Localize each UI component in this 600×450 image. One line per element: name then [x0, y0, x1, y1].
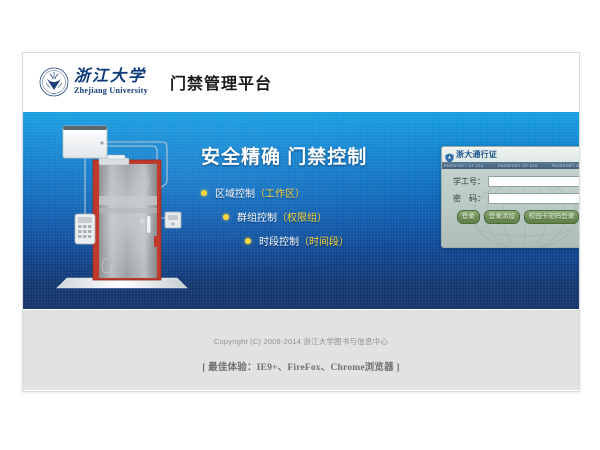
- login-add-button[interactable]: 登录添加: [484, 210, 520, 224]
- form-row-password: 密 码：: [450, 193, 579, 204]
- access-control-door-illustration: [41, 118, 201, 304]
- student-staff-id-input[interactable]: [488, 176, 579, 187]
- zju-name-cn: 浙江大学: [74, 69, 148, 85]
- password-label: 密 码：: [450, 193, 488, 204]
- feature-label: 区域控制: [215, 185, 255, 200]
- svg-text:1897: 1897: [52, 94, 56, 96]
- list-item: 时段控制 （时间段）: [201, 233, 416, 248]
- feature-list: 区域控制 （工作区） 群组控制 （权限组） 时段控制 （时间段）: [201, 185, 416, 248]
- bullet-dot-icon: [201, 190, 207, 196]
- strip-word: PASSPORT OF ZJU: [498, 164, 538, 168]
- campus-card-login-button[interactable]: 校园卡密码登录: [524, 210, 579, 224]
- passport-title-en: PASSPORT OF ZJU: [456, 162, 497, 166]
- feature-note: （权限组）: [277, 209, 327, 224]
- bullet-dot-icon: [245, 238, 251, 244]
- login-panel: 浙大通行证 PASSPORT OF ZJU PASSPORT OF ZJU PA…: [441, 146, 579, 248]
- zju-name-en: Zhejiang University: [74, 87, 148, 95]
- shield-icon: [445, 150, 454, 160]
- footer-browser-note: [ 最佳体验：IE9+、FireFox、Chrome浏览器 ]: [23, 359, 579, 373]
- feature-note: （时间段）: [299, 233, 349, 248]
- login-form: 学工号： 密 码： 登录 登录添加 校园卡密码登录: [442, 169, 579, 224]
- login-panel-header: 浙大通行证 PASSPORT OF ZJU: [442, 147, 579, 162]
- feature-note: （工作区）: [255, 185, 305, 200]
- feature-label: 群组控制: [237, 209, 277, 224]
- list-item: 区域控制 （工作区）: [201, 185, 416, 200]
- password-input[interactable]: [488, 193, 579, 204]
- hero-banner: 安全精确 门禁控制 区域控制 （工作区） 群组控制 （权限组） 时段控制 （时间…: [23, 112, 579, 309]
- zju-seal-icon: 1897: [39, 67, 69, 97]
- slogan-title: 安全精确 门禁控制: [201, 142, 416, 169]
- slogan-block: 安全精确 门禁控制 区域控制 （工作区） 群组控制 （权限组） 时段控制 （时间…: [201, 142, 416, 257]
- page-container: 1897 浙江大学 Zhejiang University 门禁管理平台: [22, 52, 580, 392]
- login-button[interactable]: 登录: [457, 210, 480, 224]
- page-title: 门禁管理平台: [170, 70, 272, 94]
- footer-copyright: Copyright (C) 2008-2014 浙江大学图书与信息中心: [23, 310, 579, 347]
- student-staff-id-label: 学工号：: [450, 176, 488, 187]
- passport-title-cn: 浙大通行证: [456, 150, 497, 159]
- zju-wordmark: 浙江大学 Zhejiang University: [74, 69, 148, 95]
- site-header: 1897 浙江大学 Zhejiang University 门禁管理平台: [23, 53, 579, 112]
- form-row-userid: 学工号：: [450, 176, 579, 187]
- strip-word: PASSPORT OF ZJU: [552, 164, 579, 168]
- login-button-group: 登录 登录添加 校园卡密码登录: [450, 210, 579, 224]
- bullet-dot-icon: [223, 214, 229, 220]
- site-footer: Copyright (C) 2008-2014 浙江大学图书与信息中心 [ 最佳…: [23, 309, 579, 390]
- feature-label: 时段控制: [259, 233, 299, 248]
- list-item: 群组控制 （权限组）: [201, 209, 416, 224]
